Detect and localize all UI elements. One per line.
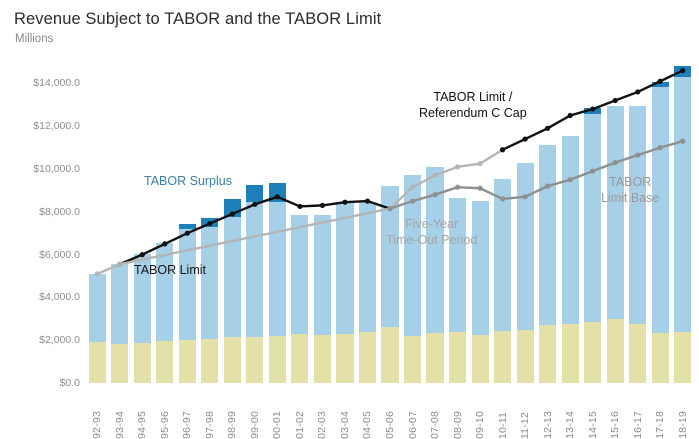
line-marker: [432, 173, 437, 178]
x-axis-tick-label: 01-02: [294, 411, 306, 439]
line-marker: [590, 106, 595, 111]
annotation-base-line2: Limit Base: [601, 190, 659, 206]
x-axis-tick-label: 98-99: [226, 411, 238, 439]
line-marker: [387, 206, 392, 211]
x-axis-tick-label: 02-03: [316, 411, 328, 439]
line-marker: [275, 194, 280, 199]
line-marker: [500, 147, 505, 152]
y-axis: $0.0$2,000.0$4,000.0$6,000.0$8,000.0$10,…: [0, 62, 80, 383]
line-marker: [635, 89, 640, 94]
annotation-timeout-line1: Five-Year: [386, 216, 477, 232]
x-axis-tick-label: 10-11: [497, 412, 509, 439]
line-marker: [140, 252, 145, 257]
y-axis-tick-label: $12,000.0: [33, 120, 80, 132]
chart-container: Revenue Subject to TABOR and the TABOR L…: [0, 0, 699, 439]
x-axis-tick-label: 95-96: [159, 411, 171, 439]
x-axis-tick-label: 03-04: [339, 411, 351, 439]
annotation-tabor-surplus: TABOR Surplus: [144, 173, 232, 189]
line-marker: [95, 271, 100, 276]
line-marker: [523, 194, 528, 199]
annotation-five-year-time-out: Five-Year Time-Out Period: [386, 216, 477, 248]
line-marker: [523, 136, 528, 141]
line-marker: [162, 241, 167, 246]
line-marker: [568, 113, 573, 118]
line-marker: [297, 204, 302, 209]
y-axis-tick-label: $2,000.0: [39, 334, 80, 346]
x-axis-tick-label: 14-15: [587, 411, 599, 439]
y-axis-tick-label: $14,000.0: [33, 77, 80, 89]
line-marker: [568, 177, 573, 182]
line-marker: [658, 79, 663, 84]
annotation-tabor-limit-base: TABOR Limit Base: [601, 174, 659, 206]
x-axis-tick-label: 00-01: [271, 411, 283, 439]
line-marker: [477, 161, 482, 166]
line-marker: [477, 186, 482, 191]
chart-subtitle: Millions: [15, 33, 53, 45]
x-axis-tick-label: 05-06: [384, 411, 396, 439]
line-marker: [432, 192, 437, 197]
x-axis-tick-label: 13-14: [564, 411, 576, 439]
annotation-base-line1: TABOR: [601, 174, 659, 190]
line-series: [95, 147, 506, 276]
line-marker: [613, 160, 618, 165]
line-marker: [342, 200, 347, 205]
line-marker: [545, 126, 550, 131]
x-axis-tick-label: 92-93: [91, 411, 103, 439]
line-path: [97, 150, 502, 274]
line-marker: [207, 221, 212, 226]
x-axis-tick-label: 18-19: [677, 411, 689, 439]
y-axis-tick-label: $4,000.0: [39, 291, 80, 303]
y-axis-tick-label: $6,000.0: [39, 249, 80, 261]
annotation-cap-line2: Referendum C Cap: [419, 105, 527, 121]
line-marker: [410, 185, 415, 190]
y-axis-tick-label: $0.0: [60, 377, 80, 389]
line-marker: [117, 262, 122, 267]
line-marker: [320, 203, 325, 208]
annotation-cap-line1: TABOR Limit /: [419, 89, 527, 105]
x-axis-tick-label: 06-07: [407, 411, 419, 439]
x-axis-tick-label: 07-08: [429, 411, 441, 439]
line-marker: [185, 231, 190, 236]
line-marker: [613, 98, 618, 103]
x-axis-tick-label: 16-17: [632, 411, 644, 439]
line-marker: [252, 202, 257, 207]
line-marker: [230, 211, 235, 216]
line-marker: [500, 196, 505, 201]
annotation-tabor-limit: TABOR Limit: [134, 262, 206, 278]
x-axis-tick-label: 15-16: [609, 411, 621, 439]
line-marker: [680, 68, 685, 73]
line-marker: [410, 199, 415, 204]
x-axis-tick-label: 99-00: [249, 411, 261, 439]
line-marker: [658, 145, 663, 150]
annotation-timeout-line2: Time-Out Period: [386, 232, 477, 248]
x-axis-tick-label: 97-98: [204, 411, 216, 439]
chart-title: Revenue Subject to TABOR and the TABOR L…: [14, 10, 381, 29]
annotation-referendum-c-cap: TABOR Limit / Referendum C Cap: [419, 89, 527, 121]
line-marker: [635, 152, 640, 157]
x-axis-tick-label: 08-09: [452, 411, 464, 439]
line-marker: [590, 169, 595, 174]
x-axis: 92-9393-9494-9595-9696-9797-9898-9999-00…: [86, 386, 694, 439]
x-axis-tick-label: 11-12: [519, 412, 531, 439]
line-marker: [455, 164, 460, 169]
line-marker: [545, 184, 550, 189]
x-axis-tick-label: 93-94: [114, 411, 126, 439]
line-marker: [680, 139, 685, 144]
x-axis-tick-label: 09-10: [474, 411, 486, 439]
x-axis-tick-label: 94-95: [136, 411, 148, 439]
line-path: [120, 197, 390, 264]
x-axis-tick-label: 17-18: [654, 411, 666, 439]
x-axis-tick-label: 96-97: [181, 411, 193, 439]
line-series: [500, 68, 685, 152]
y-axis-tick-label: $10,000.0: [33, 163, 80, 175]
y-axis-tick-label: $8,000.0: [39, 206, 80, 218]
line-marker: [365, 199, 370, 204]
x-axis-tick-label: 12-13: [542, 411, 554, 439]
x-axis-tick-label: 04-05: [361, 411, 373, 439]
line-marker: [455, 185, 460, 190]
